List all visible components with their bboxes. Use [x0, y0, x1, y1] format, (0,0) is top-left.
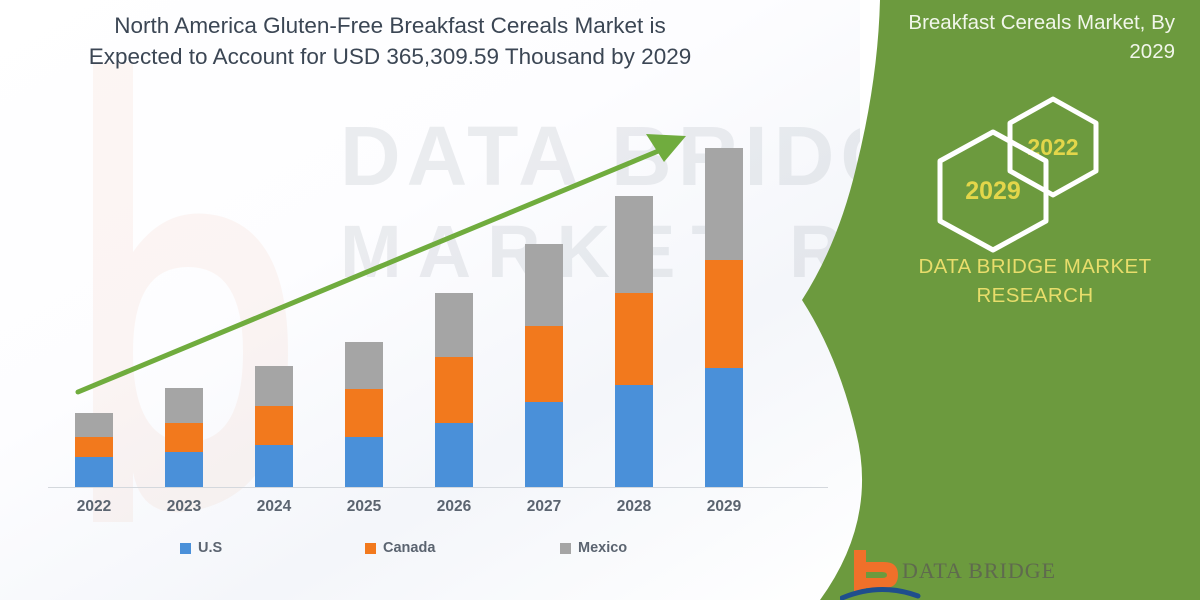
bar-segment-canada-2025 [345, 389, 383, 437]
bar-segment-mexico-2023 [165, 388, 203, 423]
bar-segment-us-2022 [75, 457, 113, 487]
bar-column-2022 [75, 413, 113, 487]
bar-segment-us-2026 [435, 423, 473, 487]
x-axis-line [48, 487, 828, 488]
bar-segment-canada-2028 [615, 293, 653, 385]
panel-title-line1: Breakfast Cereals Market, By [855, 8, 1175, 37]
bar-column-2029 [705, 148, 743, 487]
logo-text: DATA BRIDGE [902, 558, 1056, 584]
bar-column-2026 [435, 293, 473, 487]
x-axis-label-2028: 2028 [594, 498, 674, 516]
bar-column-2027 [525, 244, 563, 487]
hexagon-badge-2029-label: 2029 [935, 128, 1051, 254]
infographic-page: DATA BRIDGE MARKET RESEARCH North Americ… [0, 0, 1200, 600]
legend-label: Canada [383, 540, 435, 556]
bar-column-2023 [165, 388, 203, 487]
bar-segment-us-2027 [525, 402, 563, 487]
brand-panel: Breakfast Cereals Market, By 2029 2022 2… [760, 0, 1200, 600]
company-logo: DATA BRIDGE [840, 548, 1140, 600]
brand-name-line2: RESEARCH [890, 281, 1180, 310]
bar-segment-us-2029 [705, 368, 743, 487]
chart-panel: DATA BRIDGE MARKET RESEARCH North Americ… [0, 0, 860, 600]
legend-swatch-icon [365, 543, 376, 554]
legend-item-us[interactable]: U.S [180, 540, 222, 556]
legend-label: U.S [198, 540, 222, 556]
bar-segment-us-2024 [255, 445, 293, 487]
bar-segment-canada-2026 [435, 357, 473, 423]
bar-segment-canada-2029 [705, 260, 743, 368]
bar-segment-canada-2027 [525, 326, 563, 402]
brand-name-line1: DATA BRIDGE MARKET [890, 252, 1180, 281]
hexagon-badge-2029: 2029 [935, 128, 1051, 254]
bar-segment-mexico-2025 [345, 342, 383, 389]
x-axis-label-2022: 2022 [54, 498, 134, 516]
brand-name: DATA BRIDGE MARKET RESEARCH [890, 252, 1180, 310]
x-axis-label-2025: 2025 [324, 498, 404, 516]
plot-area: 20222023202420252026202720282029 [0, 0, 860, 600]
panel-title: Breakfast Cereals Market, By 2029 [855, 8, 1175, 66]
x-axis-label-2024: 2024 [234, 498, 314, 516]
bar-segment-us-2028 [615, 385, 653, 487]
legend-item-canada[interactable]: Canada [365, 540, 435, 556]
legend-label: Mexico [578, 540, 627, 556]
legend-item-mexico[interactable]: Mexico [560, 540, 627, 556]
chart-legend: U.SCanadaMexico [150, 540, 680, 564]
bar-segment-mexico-2027 [525, 244, 563, 326]
legend-swatch-icon [560, 543, 571, 554]
panel-title-line2: 2029 [855, 37, 1175, 66]
bar-segment-mexico-2022 [75, 413, 113, 437]
bar-segment-mexico-2024 [255, 366, 293, 406]
bar-column-2024 [255, 366, 293, 487]
bar-column-2028 [615, 196, 653, 487]
bar-segment-us-2023 [165, 452, 203, 487]
bar-column-2025 [345, 342, 383, 487]
legend-swatch-icon [180, 543, 191, 554]
bar-segment-mexico-2028 [615, 196, 653, 293]
x-axis-label-2023: 2023 [144, 498, 224, 516]
bar-segment-us-2025 [345, 437, 383, 487]
bar-segment-mexico-2029 [705, 148, 743, 260]
x-axis-label-2026: 2026 [414, 498, 494, 516]
bar-segment-mexico-2026 [435, 293, 473, 357]
bar-segment-canada-2022 [75, 437, 113, 457]
bar-segment-canada-2023 [165, 423, 203, 452]
x-axis-label-2027: 2027 [504, 498, 584, 516]
bar-segment-canada-2024 [255, 406, 293, 445]
x-axis-label-2029: 2029 [684, 498, 764, 516]
